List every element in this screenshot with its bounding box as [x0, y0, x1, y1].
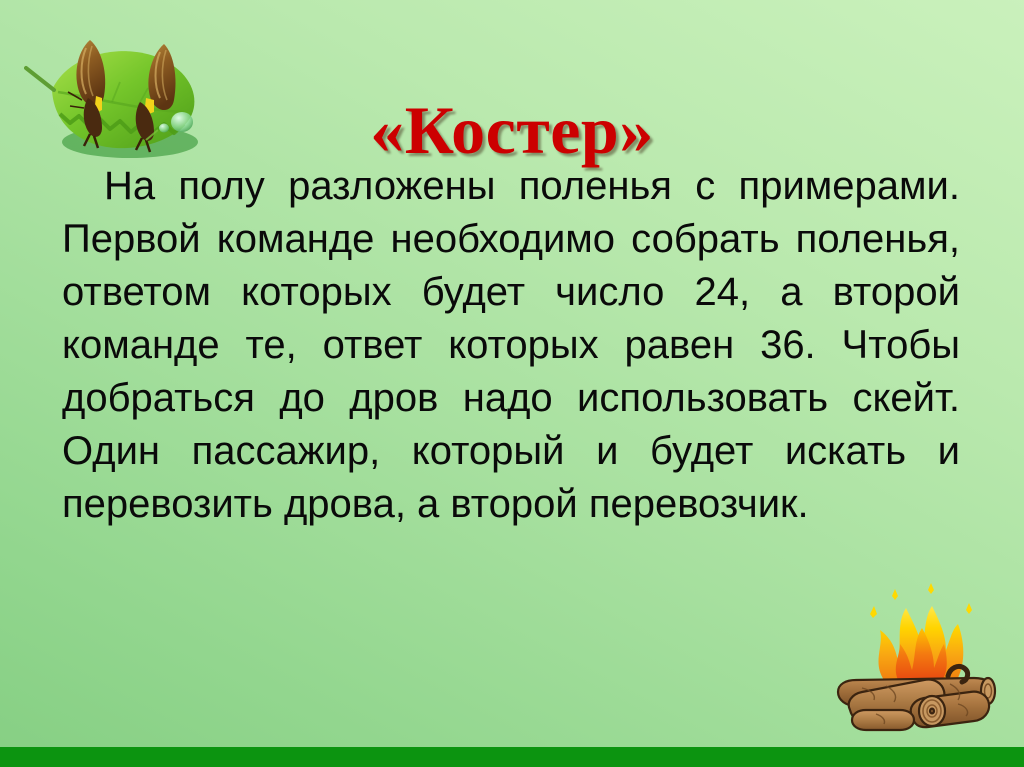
campfire-icon	[828, 580, 1008, 740]
slide-bottom-bar	[0, 747, 1024, 767]
slide-title: «Костер»	[0, 96, 1024, 164]
presentation-slide: «Костер» На полу разложены поленья с при…	[0, 0, 1024, 767]
slide-body-text: На полу разложены поленья с примерами. П…	[62, 160, 960, 531]
